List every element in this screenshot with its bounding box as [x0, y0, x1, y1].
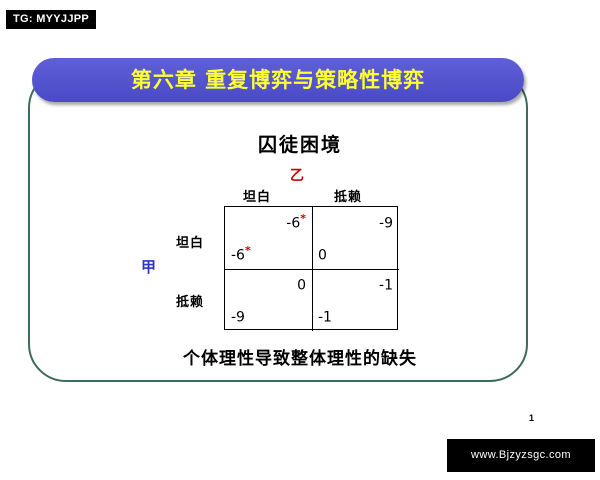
- footer-url: www.Bjzyzsgc.com: [447, 439, 595, 472]
- cell-row-payoff: -1: [318, 306, 332, 326]
- matrix-row-header-2: 抵赖: [176, 291, 204, 310]
- matrix-cell-deny-confess: 0 -9: [225, 269, 312, 331]
- cell-column-payoff: 0: [297, 274, 306, 294]
- cell-row-payoff: 0: [318, 244, 327, 264]
- watermark-tag: TG: MYYJJPP: [6, 10, 96, 29]
- matrix-cell-confess-deny: -9 0: [312, 207, 399, 269]
- matrix-row-header-1: 坦白: [176, 232, 204, 251]
- cell-column-payoff: -9: [379, 212, 393, 232]
- matrix-cell-confess-confess: -6* -6*: [225, 207, 312, 269]
- column-player-label: 乙: [290, 165, 304, 185]
- payoff-matrix: -6* -6* -9 0 0 -9 -1 -1: [224, 206, 398, 330]
- conclusion-text: 个体理性导致整体理性的缺失: [0, 344, 600, 369]
- cell-row-payoff: -9: [231, 306, 245, 326]
- best-response-star-icon: *: [300, 212, 306, 225]
- matrix-cell-deny-deny: -1 -1: [312, 269, 399, 331]
- cell-row-payoff: -6*: [231, 244, 251, 264]
- cell-column-payoff: -6*: [286, 212, 306, 232]
- slide-title: 第六章 重复博弈与策略性博弈: [32, 58, 524, 102]
- slide-subtitle: 囚徒困境: [0, 130, 600, 157]
- slide: TG: MYYJJPP 第六章 重复博弈与策略性博弈 囚徒困境 乙 甲 坦白 抵…: [0, 0, 600, 480]
- matrix-column-header-1: 坦白: [243, 186, 271, 205]
- matrix-column-header-2: 抵赖: [334, 186, 362, 205]
- row-player-label: 甲: [141, 256, 156, 277]
- cell-column-payoff: -1: [379, 274, 393, 294]
- footer-url-bar: www.Bjzyzsgc.com: [447, 439, 595, 472]
- page-number: 1: [529, 413, 534, 423]
- best-response-star-icon: *: [245, 244, 251, 257]
- title-banner: 第六章 重复博弈与策略性博弈: [32, 58, 524, 102]
